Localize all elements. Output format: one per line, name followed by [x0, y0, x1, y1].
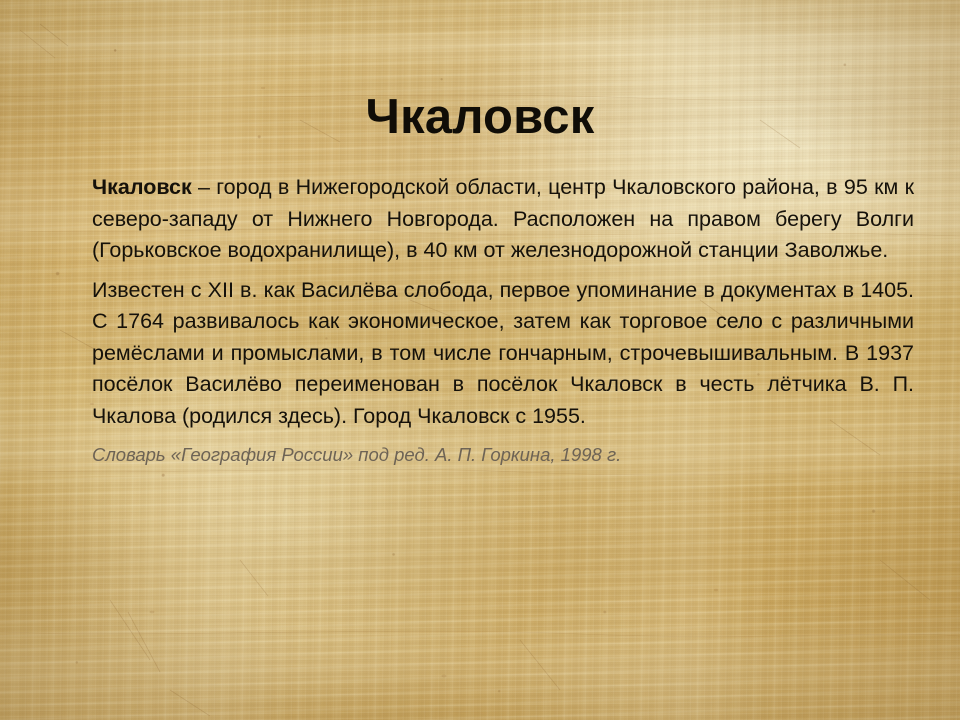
slide-content: Чкаловск Чкаловск – город в Нижегородско… [0, 0, 960, 720]
paragraph-history: Известен с XII в. как Василёва слобода, … [92, 275, 914, 433]
source-citation: Словарь «География России» под ред. А. П… [92, 442, 914, 468]
presentation-slide: Чкаловск Чкаловск – город в Нижегородско… [0, 0, 960, 720]
page-title: Чкаловск [0, 91, 960, 145]
paragraph-definition-text: – город в Нижегородской области, центр Ч… [92, 175, 914, 262]
body-text-block: Чкаловск – город в Нижегородской области… [92, 172, 914, 468]
paragraph-definition: Чкаловск – город в Нижегородской области… [92, 172, 914, 267]
term-lead: Чкаловск [92, 175, 192, 199]
